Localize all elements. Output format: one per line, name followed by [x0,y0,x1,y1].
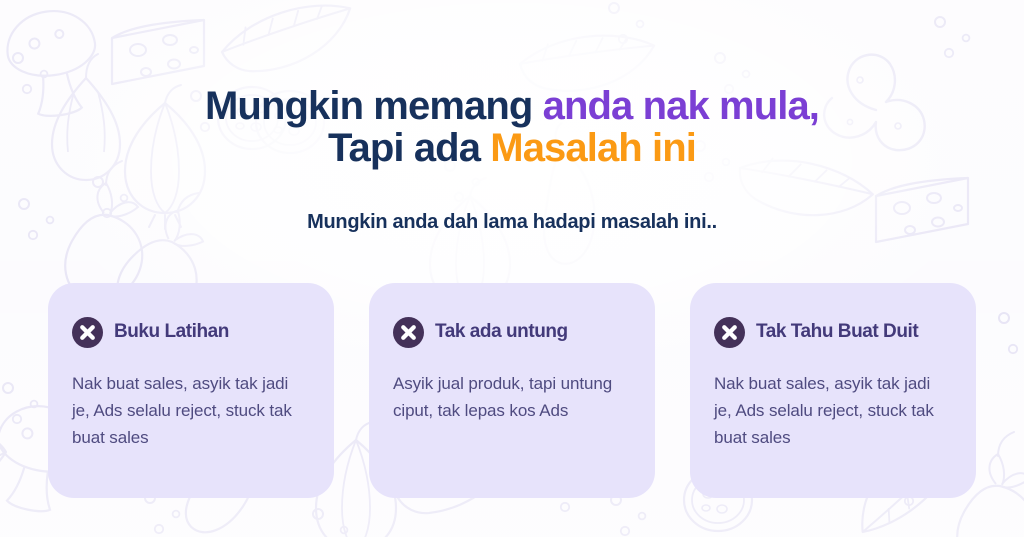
card-header: Tak ada untung [393,315,631,349]
problem-card: Tak Tahu Buat Duit Nak buat sales, asyik… [690,283,976,498]
problem-card: Tak ada untung Asyik jual produk, tapi u… [369,283,655,498]
headline-line-2: Tapi ada Masalah ini [0,127,1024,169]
card-header: Buku Latihan [72,315,310,349]
headline-line2-orange: Masalah ini [490,126,696,170]
card-body-text: Nak buat sales, asyik tak jadi je, Ads s… [714,370,952,451]
x-circle-icon [72,317,103,348]
page-subtitle: Mungkin anda dah lama hadapi masalah ini… [0,209,1024,235]
card-title: Buku Latihan [114,321,229,343]
card-header: Tak Tahu Buat Duit [714,315,952,349]
problem-card-list: Buku Latihan Nak buat sales, asyik tak j… [48,283,976,498]
slide-content: Mungkin memang anda nak mula, Tapi ada M… [0,0,1024,537]
headline-line1-purple: anda nak mula, [543,84,819,128]
headline-line-1: Mungkin memang anda nak mula, [0,85,1024,127]
headline-line1-navy: Mungkin memang [205,84,543,128]
page-title: Mungkin memang anda nak mula, Tapi ada M… [0,85,1024,169]
x-circle-icon [393,317,424,348]
slide-canvas: Mungkin memang anda nak mula, Tapi ada M… [0,0,1024,537]
card-title: Tak Tahu Buat Duit [756,321,918,343]
headline-line2-navy: Tapi ada [328,126,490,170]
card-body-text: Nak buat sales, asyik tak jadi je, Ads s… [72,370,310,451]
card-title: Tak ada untung [435,321,568,343]
x-circle-icon [714,317,745,348]
problem-card: Buku Latihan Nak buat sales, asyik tak j… [48,283,334,498]
card-body-text: Asyik jual produk, tapi untung ciput, ta… [393,370,631,424]
